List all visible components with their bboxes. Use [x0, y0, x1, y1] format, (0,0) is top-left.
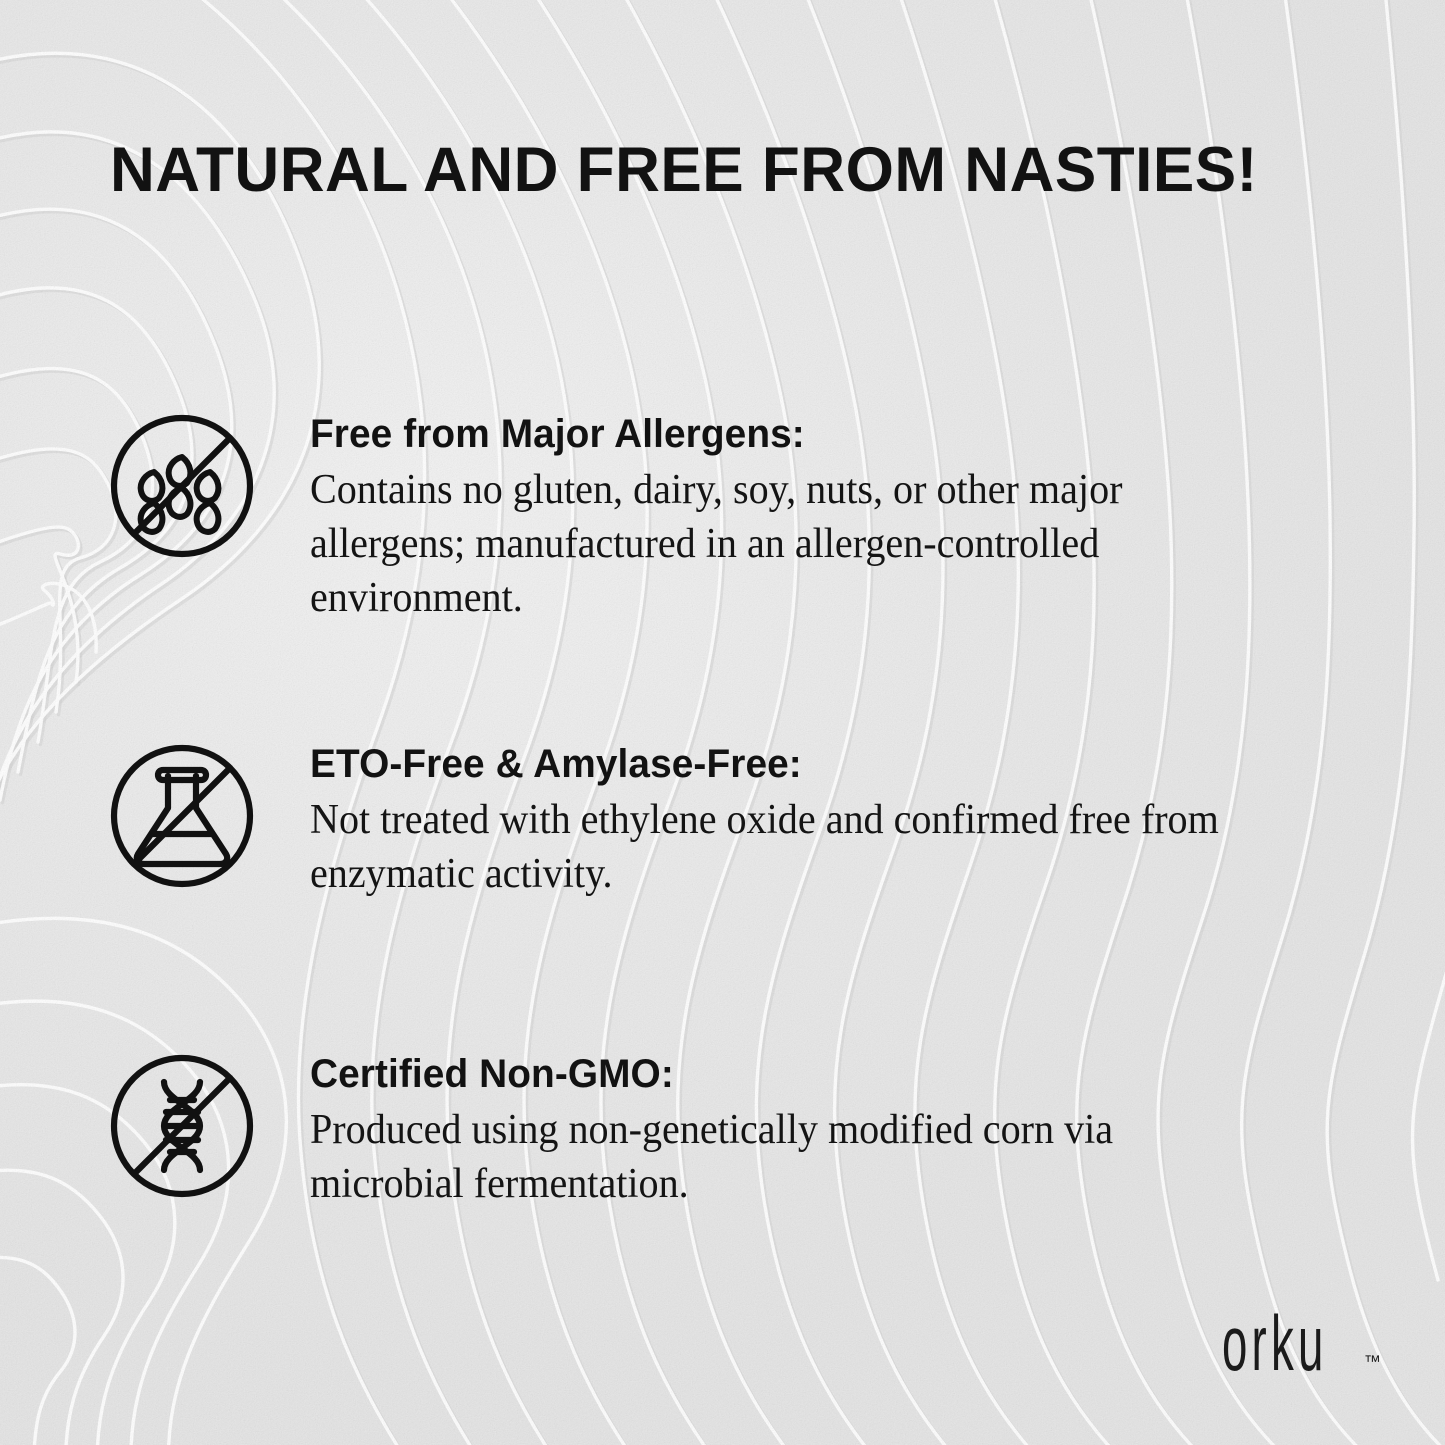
trademark-symbol: ™: [1364, 1352, 1381, 1372]
feature-body: Not treated with ethylene oxide and conf…: [310, 793, 1275, 901]
infographic-canvas: NATURAL AND FREE FROM NASTIES! Free from…: [0, 0, 1445, 1445]
feature-heading: ETO-Free & Amylase-Free:: [310, 742, 1290, 787]
no-chemical-flask-icon: [108, 742, 256, 890]
feature-text-block: Certified Non-GMO: Produced using non-ge…: [310, 1052, 1320, 1211]
feature-body: Contains no gluten, dairy, soy, nuts, or…: [310, 463, 1275, 625]
feature-heading: Certified Non-GMO:: [310, 1052, 1290, 1097]
page-title: NATURAL AND FREE FROM NASTIES!: [110, 138, 1331, 202]
feature-heading: Free from Major Allergens:: [310, 412, 1290, 457]
brand-wordmark: orku: [1222, 1311, 1328, 1378]
feature-text-block: ETO-Free & Amylase-Free: Not treated wit…: [310, 742, 1320, 901]
brand-logo: orku ™: [1222, 1312, 1381, 1378]
feature-text-block: Free from Major Allergens: Contains no g…: [310, 412, 1320, 625]
no-gmo-dna-icon: [108, 1052, 256, 1200]
feature-body: Produced using non-genetically modified …: [310, 1103, 1275, 1211]
no-grain-allergen-icon: [108, 412, 256, 560]
